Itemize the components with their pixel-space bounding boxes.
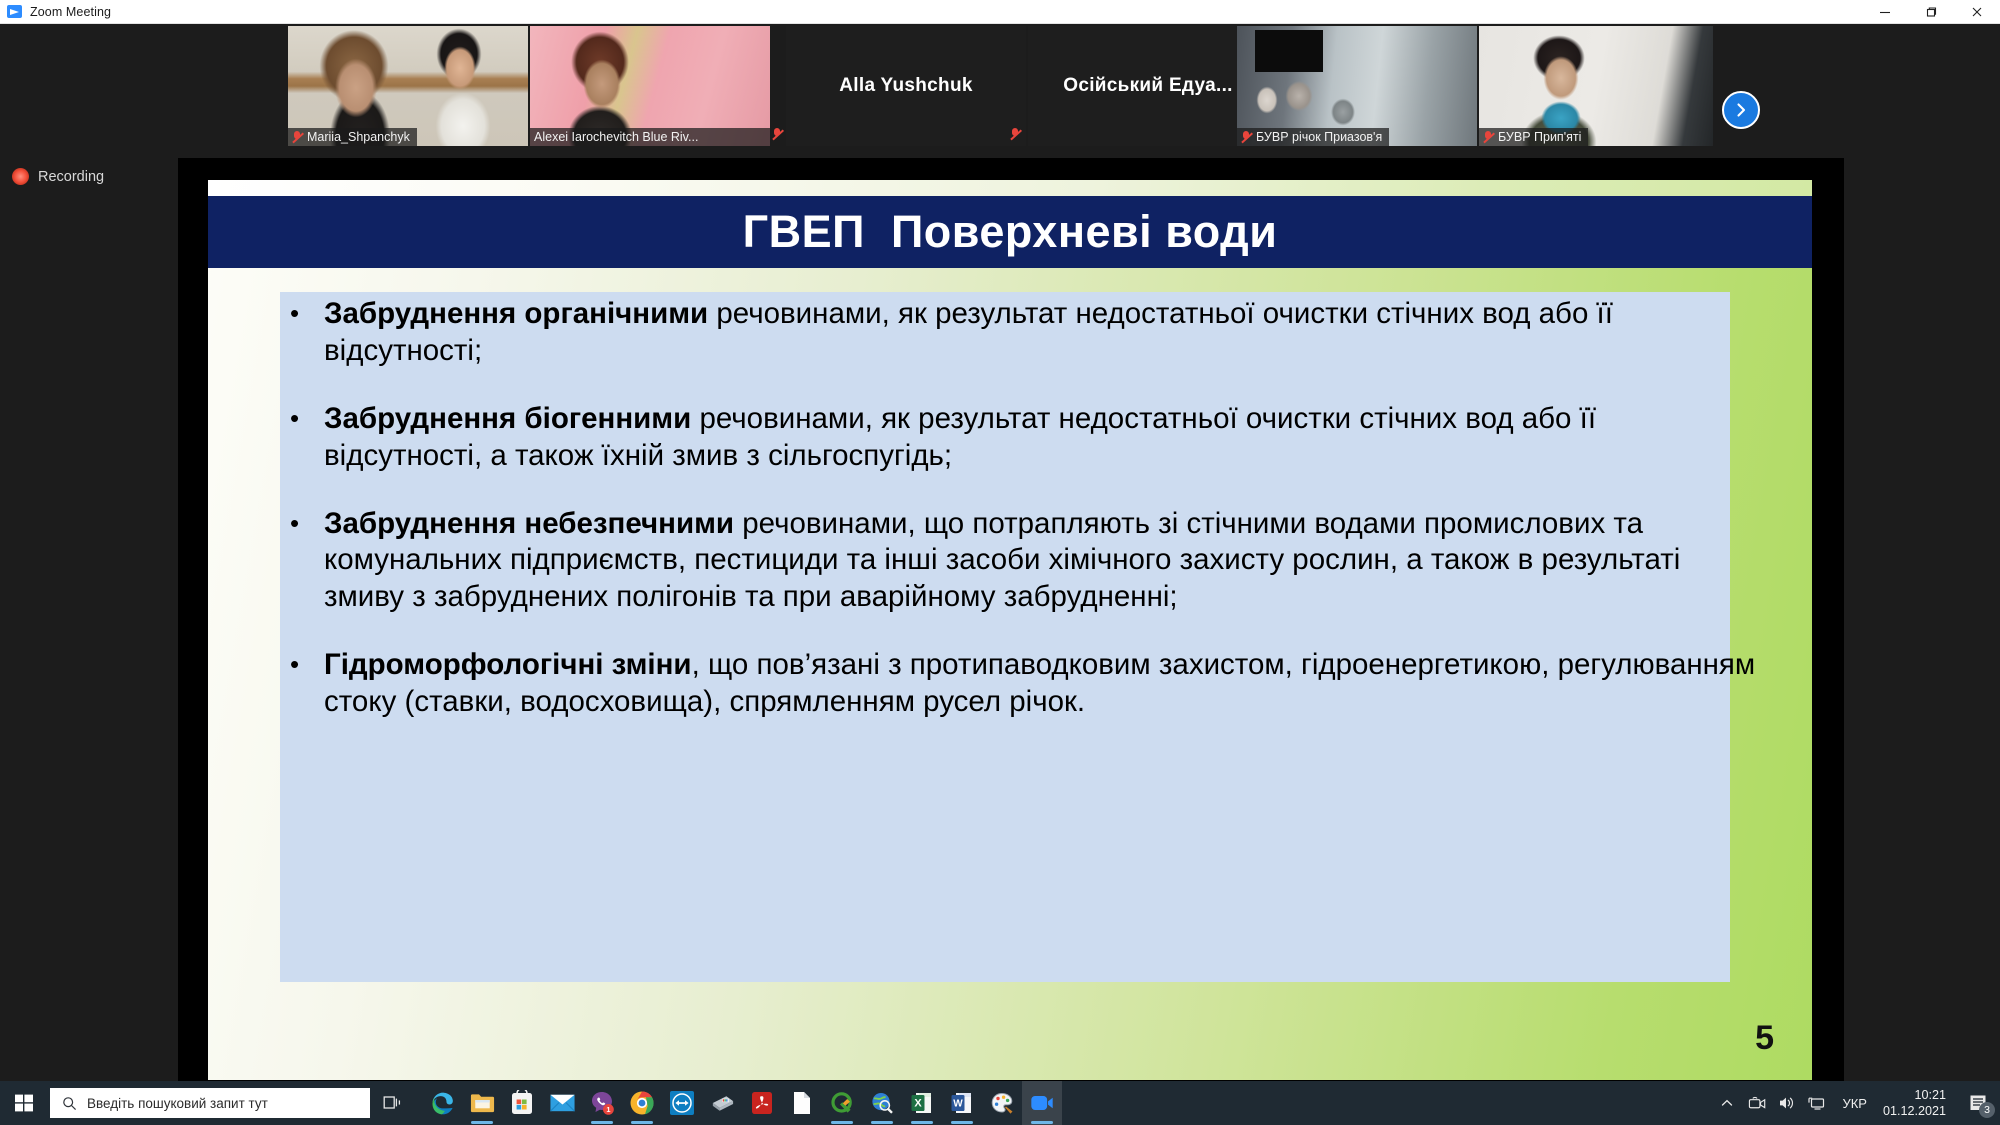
volume-button[interactable] [1772, 1081, 1802, 1125]
slide-top-strip [208, 180, 1812, 196]
teamviewer-icon [669, 1090, 695, 1116]
bullet-item: • Забруднення органічними речовинами, як… [286, 296, 1756, 370]
running-indicator [631, 1121, 653, 1124]
bullet-marker: • [286, 506, 324, 617]
recording-indicator[interactable]: Recording [12, 168, 104, 185]
svg-text:W: W [953, 1099, 963, 1110]
taskbar-app-teamviewer[interactable] [662, 1081, 702, 1125]
language-indicator[interactable]: УКР [1832, 1096, 1877, 1111]
taskbar-app-zoom[interactable] [1022, 1081, 1062, 1125]
bullet-item: • Забруднення біогенними речовинами, як … [286, 401, 1756, 475]
participant-tile[interactable]: БУВР Прип'яті [1479, 26, 1713, 146]
participant-tile[interactable]: Alla Yushchuk [786, 26, 1026, 146]
meet-now-button[interactable] [1742, 1081, 1772, 1125]
scanner-icon [709, 1091, 736, 1115]
running-indicator [871, 1121, 893, 1124]
participant-name: Alexei Iarochevitch Blue Riv... [534, 130, 698, 144]
zoom-camera-icon [1029, 1091, 1055, 1115]
search-input[interactable]: Введіть пошуковий запит тут [50, 1088, 370, 1118]
network-button[interactable] [1802, 1081, 1832, 1125]
taskbar-app-paint[interactable] [982, 1081, 1022, 1125]
meet-now-camera-icon [1748, 1095, 1767, 1111]
bullet-lead: Гідроморфологічні зміни [324, 648, 692, 681]
task-view-button[interactable] [370, 1081, 416, 1125]
bullet-text: Гідроморфологічні зміни, що пов’язані з … [324, 647, 1756, 721]
window-titlebar: Zoom Meeting [0, 0, 2000, 24]
participant-name-badge: Alexei Iarochevitch Blue Riv... [530, 128, 770, 146]
bullet-lead: Забруднення небезпечними [324, 507, 734, 540]
participant-name: Осійський Едуа... [1028, 26, 1268, 146]
taskbar-app-file-explorer[interactable] [462, 1081, 502, 1125]
participant-tile[interactable]: Mariia_Shpanchyk [288, 26, 528, 146]
network-monitor-icon [1808, 1095, 1826, 1111]
globe-search-icon [869, 1090, 895, 1116]
bullet-text: Забруднення небезпечними речовинами, що … [324, 506, 1756, 617]
recording-dot-icon [12, 168, 29, 185]
bullet-item: • Гідроморфологічні зміни, що пов’язані … [286, 647, 1756, 721]
mail-envelope-icon [549, 1092, 576, 1114]
microsoft-store-icon [510, 1090, 534, 1116]
close-button[interactable] [1954, 0, 2000, 23]
window-controls [1862, 0, 2000, 23]
bullet-item: • Забруднення небезпечними речовинами, щ… [286, 506, 1756, 617]
adobe-acrobat-icon [750, 1090, 774, 1116]
bullet-text: Забруднення органічними речовинами, як р… [324, 296, 1756, 370]
participant-name: БУВР річок Приазов'я [1256, 130, 1382, 144]
taskbar-app-arcgis-earth[interactable] [862, 1081, 902, 1125]
folder-icon [469, 1091, 496, 1115]
windows-taskbar: Введіть пошуковий запит тут [0, 1081, 2000, 1125]
svg-text:1: 1 [606, 1105, 610, 1114]
bullet-marker: • [286, 401, 324, 475]
slide-title: ГВЕП Поверхневі води [208, 196, 1812, 268]
screen: Zoom Meeting Mariia_Shpanchyk [0, 0, 2000, 1125]
participant-tile[interactable]: Осійський Едуа... [1028, 26, 1268, 146]
search-icon [62, 1096, 77, 1111]
participant-name-badge: Mariia_Shpanchyk [288, 128, 417, 146]
slide-bullet-list: • Забруднення органічними речовинами, як… [286, 296, 1756, 721]
running-indicator [1031, 1121, 1053, 1124]
chevron-up-icon [1720, 1096, 1734, 1110]
clock[interactable]: 10:21 01.12.2021 [1877, 1087, 1956, 1119]
participant-name-badge: БУВР річок Приазов'я [1237, 128, 1389, 146]
running-indicator [591, 1121, 613, 1124]
muted-mic-icon [1483, 130, 1494, 144]
taskbar-app-qgis[interactable] [822, 1081, 862, 1125]
clock-time: 10:21 [1883, 1087, 1946, 1103]
recording-label: Recording [38, 169, 104, 185]
taskbar-app-microsoft-excel[interactable]: X [902, 1081, 942, 1125]
running-indicator [471, 1121, 493, 1124]
document-icon [791, 1090, 813, 1116]
next-participants-button[interactable] [1722, 91, 1760, 129]
running-indicator [951, 1121, 973, 1124]
zoom-camera-icon [7, 5, 22, 18]
speaker-icon [1778, 1095, 1796, 1111]
participant-name: БУВР Прип'яті [1498, 130, 1581, 144]
qgis-icon [829, 1090, 855, 1116]
search-placeholder: Введіть пошуковий запит тут [87, 1096, 268, 1111]
participant-name-badge: БУВР Прип'яті [1479, 128, 1588, 146]
participant-tile[interactable]: БУВР річок Приазов'я [1237, 26, 1477, 146]
running-indicator [831, 1121, 853, 1124]
notification-count-badge: 3 [1979, 1102, 1995, 1118]
muted-mic-icon [292, 130, 303, 144]
shared-screen-frame: ГВЕП Поверхневі води • Забруднення орган… [178, 158, 1844, 1083]
taskbar-app-mail[interactable] [542, 1081, 582, 1125]
windows-logo-icon [14, 1093, 34, 1113]
participant-name: Alla Yushchuk [786, 26, 1026, 146]
taskbar-app-microsoft-store[interactable] [502, 1081, 542, 1125]
microsoft-edge-icon [429, 1090, 456, 1117]
slide-page-number: 5 [1755, 1019, 1774, 1058]
taskbar-app-list: 1 [422, 1081, 1062, 1125]
bullet-marker: • [286, 296, 324, 370]
action-center-button[interactable]: 3 [1956, 1081, 2000, 1125]
system-tray: УКР 10:21 01.12.2021 3 [1712, 1081, 2000, 1125]
viber-icon: 1 [589, 1090, 615, 1116]
google-chrome-icon [629, 1090, 655, 1116]
taskbar-app-google-chrome[interactable] [622, 1081, 662, 1125]
taskbar-app-adobe-acrobat-reader[interactable] [742, 1081, 782, 1125]
muted-mic-icon [1241, 130, 1252, 144]
participant-tile[interactable]: Alexei Iarochevitch Blue Riv... [530, 26, 770, 146]
bullet-marker: • [286, 647, 324, 721]
start-button[interactable] [0, 1081, 48, 1125]
taskbar-app-microsoft-word[interactable]: W [942, 1081, 982, 1125]
muted-mic-icon [1010, 127, 1021, 141]
microsoft-excel-icon: X [910, 1090, 934, 1116]
muted-mic-icon [772, 127, 783, 141]
bullet-lead: Забруднення органічними [324, 297, 708, 330]
participant-filmstrip: Mariia_Shpanchyk Alexei Iarochevitch Blu… [0, 23, 2000, 155]
svg-text:X: X [914, 1098, 922, 1110]
show-hidden-icons-button[interactable] [1712, 1081, 1742, 1125]
microsoft-word-icon: W [950, 1090, 974, 1116]
taskbar-app-scanner-utility[interactable] [702, 1081, 742, 1125]
minimize-button[interactable] [1862, 0, 1908, 23]
clock-date: 01.12.2021 [1883, 1103, 1946, 1119]
maximize-button[interactable] [1908, 0, 1954, 23]
task-view-icon [383, 1094, 403, 1112]
window-title: Zoom Meeting [30, 5, 111, 19]
participant-name: Mariia_Shpanchyk [307, 130, 410, 144]
bullet-text: Забруднення біогенними речовинами, як ре… [324, 401, 1756, 475]
taskbar-app-microsoft-edge[interactable] [422, 1081, 462, 1125]
bullet-lead: Забруднення біогенними [324, 402, 691, 435]
running-indicator [911, 1121, 933, 1124]
chevron-right-icon [1733, 102, 1749, 118]
taskbar-app-viber[interactable]: 1 [582, 1081, 622, 1125]
taskbar-app-text-document[interactable] [782, 1081, 822, 1125]
paint-palette-icon [989, 1090, 1015, 1116]
presentation-slide[interactable]: ГВЕП Поверхневі води • Забруднення орган… [208, 180, 1812, 1080]
